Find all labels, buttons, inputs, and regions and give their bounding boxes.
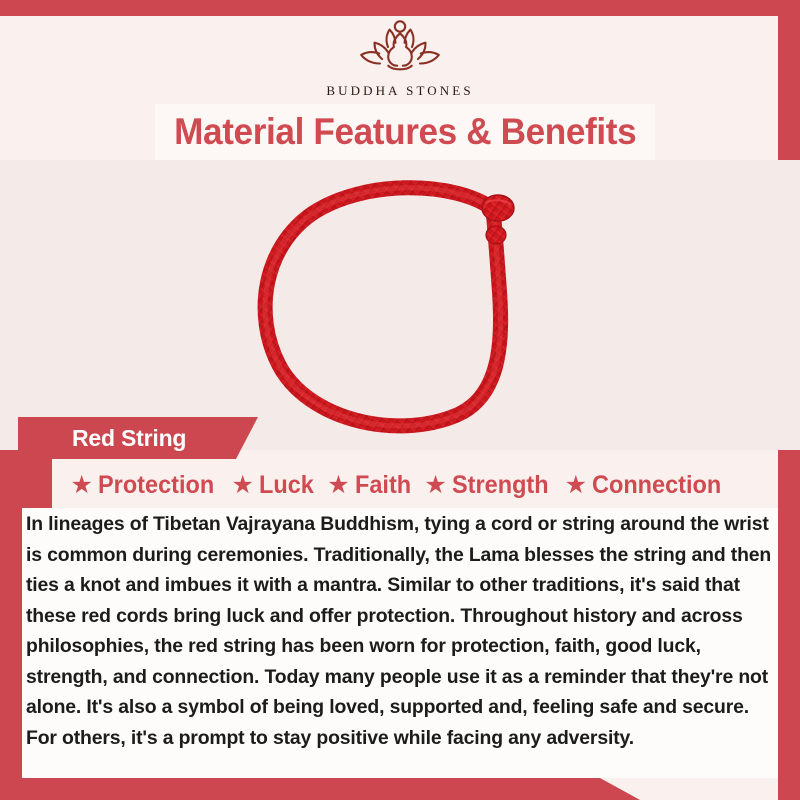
- feature-item-protection: ★ Protection: [70, 471, 221, 500]
- red-string-bracelet-image: [245, 165, 555, 445]
- feature-item-connection: ★ Connection: [565, 471, 730, 500]
- frame-bottom-bar: [0, 778, 640, 800]
- title-banner: Material Features & Benefits: [155, 104, 655, 160]
- feature-item-strength: ★ Strength: [424, 471, 554, 500]
- star-icon: ★: [327, 473, 349, 498]
- product-label-text: Red String: [72, 425, 186, 452]
- product-label-banner: Red String: [18, 417, 258, 459]
- features-row: ★ Protection ★ Luck ★ Faith ★ Strength ★…: [22, 464, 778, 506]
- brand-logo-block: BUDDHA STONES: [0, 18, 800, 99]
- feature-label: Strength: [452, 471, 549, 500]
- star-icon: ★: [565, 473, 587, 498]
- feature-item-faith: ★ Faith: [327, 471, 414, 500]
- lotus-meditation-logo-icon: [334, 18, 466, 80]
- infographic-canvas: BUDDHA STONES Material Features & Benefi…: [0, 0, 800, 800]
- brand-wordmark: BUDDHA STONES: [0, 83, 800, 99]
- frame-top-bar: [0, 0, 800, 16]
- page-title: Material Features & Benefits: [174, 111, 636, 153]
- feature-label: Faith: [355, 471, 411, 500]
- feature-label: Luck: [259, 471, 314, 500]
- description-text: In lineages of Tibetan Vajrayana Buddhis…: [26, 509, 778, 753]
- star-icon: ★: [70, 473, 92, 498]
- feature-label: Connection: [592, 471, 721, 500]
- star-icon: ★: [232, 473, 254, 498]
- star-icon: ★: [424, 473, 446, 498]
- product-image-wrap: [0, 160, 800, 450]
- feature-item-luck: ★ Luck: [232, 471, 318, 500]
- feature-label: Protection: [98, 471, 214, 500]
